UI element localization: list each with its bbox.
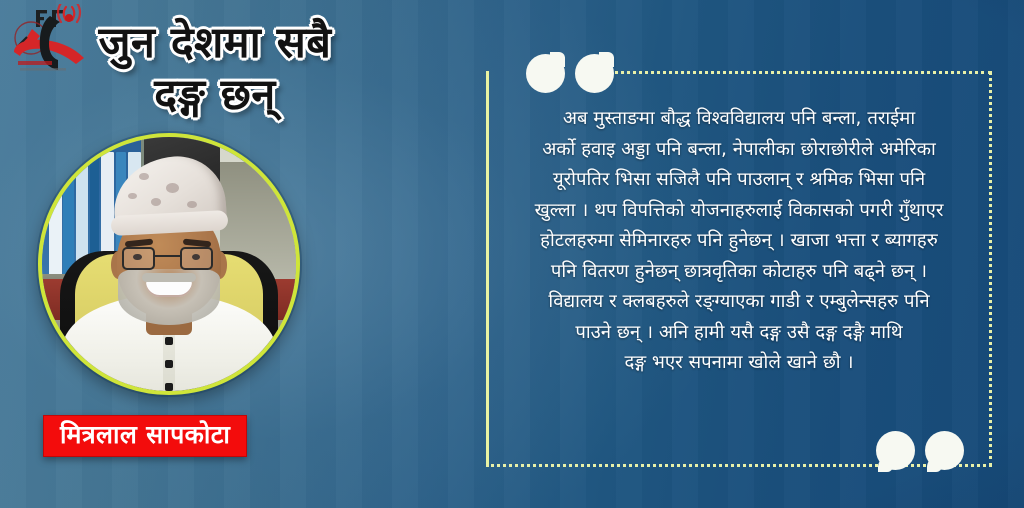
portrait-smile bbox=[146, 281, 192, 298]
quote-line: विद्यालय र क्लबहरुले रङ्ग्याएका गाडी र ए… bbox=[512, 287, 966, 318]
avatar bbox=[38, 133, 300, 395]
portrait-glasses-right bbox=[180, 247, 213, 270]
open-quote-icon bbox=[526, 52, 618, 94]
portrait-topi-pattern bbox=[166, 183, 179, 193]
portrait-topi-pattern bbox=[187, 201, 197, 209]
quote-border-top bbox=[608, 71, 992, 74]
portrait-button bbox=[165, 337, 173, 345]
quote-line: होटलहरुमा सेमिनारहरु पनि हुनेछन् । खाजा … bbox=[512, 226, 966, 257]
headline-line-2: दङ्ग छन् bbox=[0, 68, 430, 122]
poster-canvas: जुन देशमा सबै दङ्ग छन् bbox=[0, 0, 1024, 508]
page-title: जुन देशमा सबै दङ्ग छन् bbox=[0, 16, 430, 122]
portrait-glasses-left bbox=[122, 247, 155, 270]
quote-line: अर्को हवाइ अड्डा पनि बन्ला, नेपालीका छोर… bbox=[512, 135, 966, 166]
portrait-moustache bbox=[142, 273, 195, 282]
quote-line: दङ्ग भएर सपनामा खोले खाने छौ । bbox=[512, 348, 966, 379]
quote-panel: अब मुस्ताङमा बौद्ध विश्वविद्यालय पनि बन्… bbox=[486, 52, 992, 467]
portrait-illustration bbox=[42, 137, 296, 391]
quote-text: अब मुस्ताङमा बौद्ध विश्वविद्यालय पनि बन्… bbox=[512, 104, 966, 379]
quote-line: खुल्ला । थप विपत्तिको योजनाहरुलाई विकासक… bbox=[512, 196, 966, 227]
portrait-topi-pattern bbox=[139, 173, 149, 181]
quote-left-rail bbox=[486, 71, 489, 467]
quote-line: पाउने छन् । अनि हामी यसै दङ्ग उसै दङ्ग द… bbox=[512, 318, 966, 349]
speaker-name-banner: मित्रलाल सापकोटा bbox=[43, 415, 247, 457]
quote-border-right bbox=[989, 71, 992, 467]
quote-line: पनि वितरण हुनेछन् छात्रवृतिका कोटाहरु पन… bbox=[512, 257, 966, 288]
portrait-topi-pattern bbox=[151, 198, 161, 206]
quote-line: यूरोपतिर भिसा सजिलै पनि पाउलान् र श्रमिक… bbox=[512, 165, 966, 196]
close-quote-icon bbox=[876, 431, 968, 473]
portrait-button bbox=[165, 360, 173, 368]
portrait-button bbox=[165, 383, 173, 391]
quote-line: अब मुस्ताङमा बौद्ध विश्वविद्यालय पनि बन्… bbox=[512, 104, 966, 135]
headline-line-1: जुन देशमा सबै bbox=[0, 16, 430, 70]
portrait-glasses-bridge bbox=[155, 255, 180, 257]
